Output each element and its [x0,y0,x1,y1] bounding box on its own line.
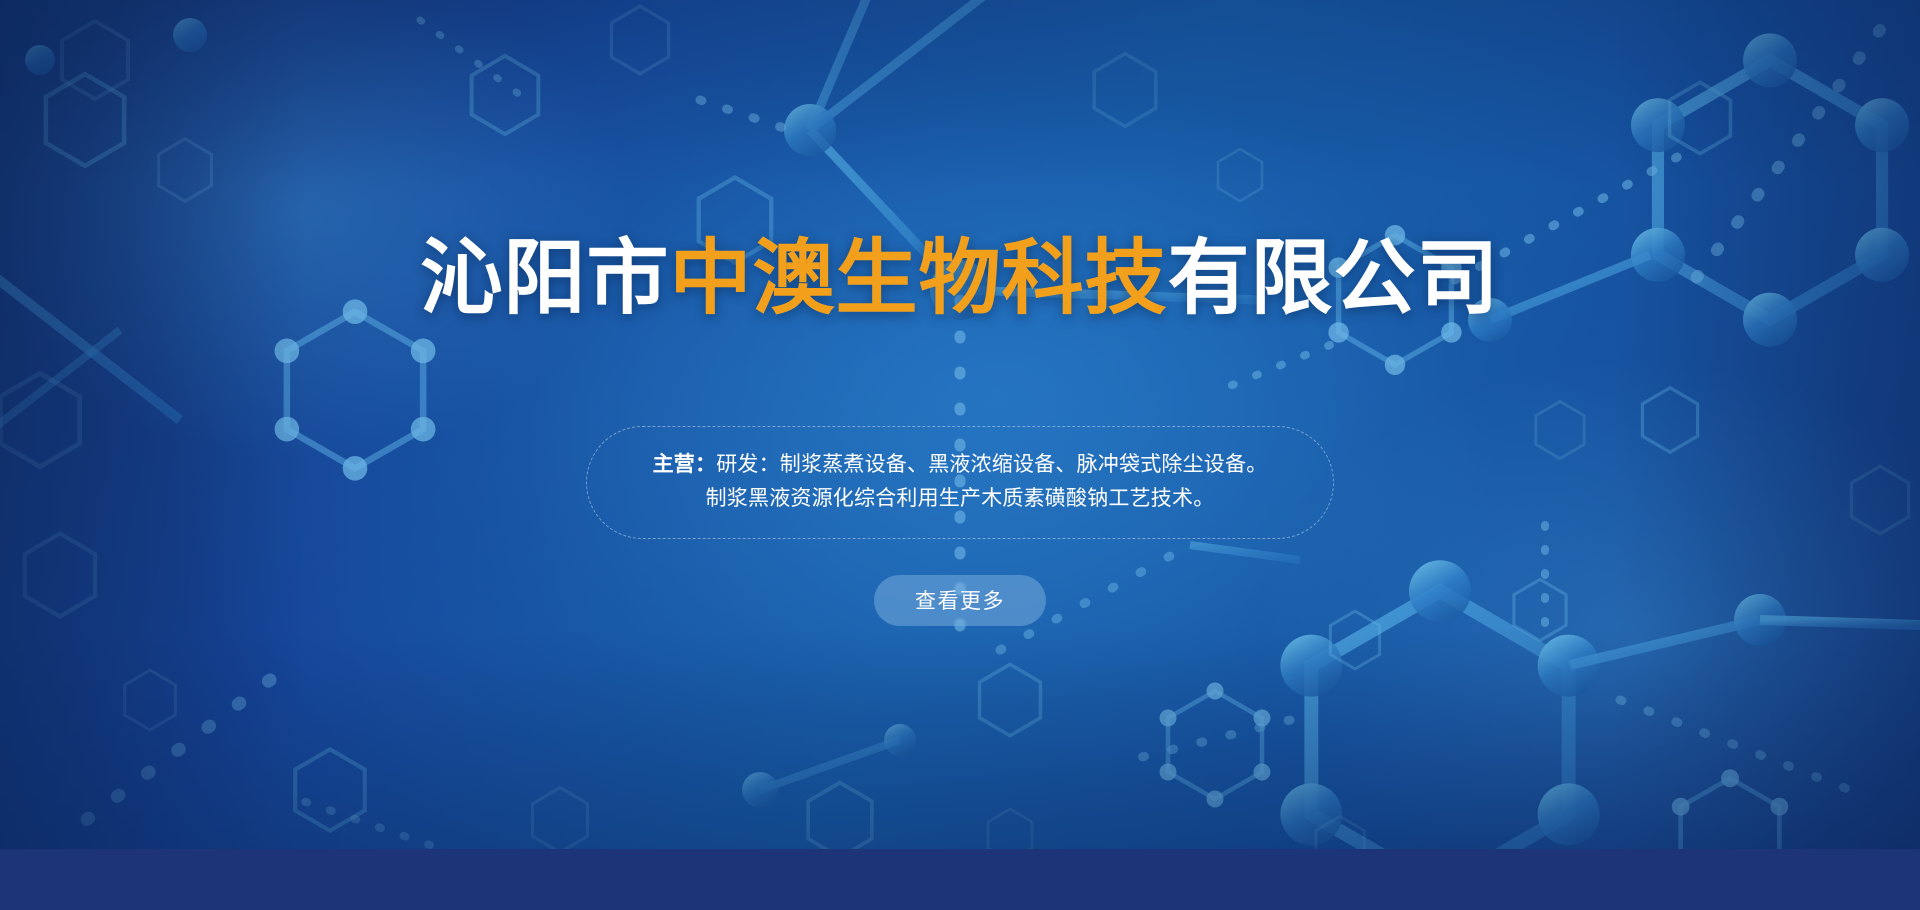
subtitle-lead: 主营： [653,453,717,476]
subtitle-box: 主营：研发：制浆蒸煮设备、黑液浓缩设备、脉冲袋式除尘设备。 制浆黑液资源化综合利… [586,426,1334,539]
banner-page: 沁阳市中澳生物科技有限公司 主营：研发：制浆蒸煮设备、黑液浓缩设备、脉冲袋式除尘… [0,0,1920,910]
title-prefix: 沁阳市 [420,233,669,324]
title-suffix: 有限公司 [1168,233,1500,324]
title-highlight: 中澳生物科技 [669,233,1167,324]
subtitle-text: 研发：制浆蒸煮设备、黑液浓缩设备、脉冲袋式除尘设备。 [716,453,1267,476]
hero-banner: 沁阳市中澳生物科技有限公司 主营：研发：制浆蒸煮设备、黑液浓缩设备、脉冲袋式除尘… [0,0,1920,849]
subtitle-line-2: 制浆黑液资源化综合利用生产木质素磺酸钠工艺技术。 [631,482,1289,516]
hero-content: 沁阳市中澳生物科技有限公司 主营：研发：制浆蒸煮设备、黑液浓缩设备、脉冲袋式除尘… [0,0,1920,849]
page-title: 沁阳市中澳生物科技有限公司 [420,238,1499,320]
bottom-bar [0,849,1920,910]
subtitle-line-1: 主营：研发：制浆蒸煮设备、黑液浓缩设备、脉冲袋式除尘设备。 [631,448,1289,482]
subtitle-text: 制浆黑液资源化综合利用生产木质素磺酸钠工艺技术。 [706,487,1215,510]
view-more-button[interactable]: 查看更多 [874,575,1046,626]
